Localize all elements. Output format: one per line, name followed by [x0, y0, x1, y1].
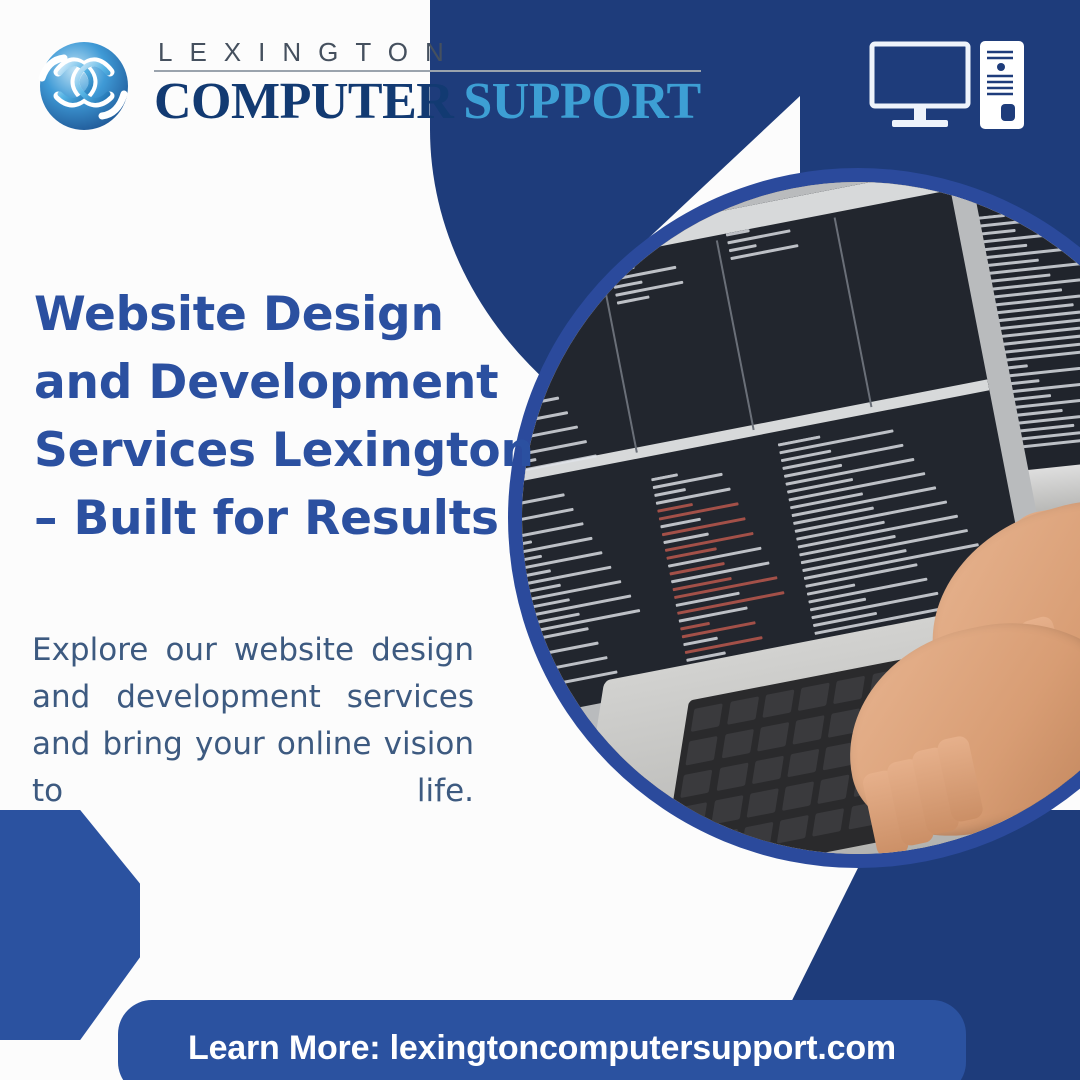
- brand-name-lexington: LEXINGTON: [154, 39, 701, 72]
- desktop-monitor-icon: [872, 44, 968, 127]
- code-pane-bottom-mid: [651, 456, 807, 677]
- page-title: Website Design and Development Services …: [34, 281, 554, 552]
- header: LEXINGTON COMPUTERSUPPORT: [0, 0, 1080, 170]
- pc-tower-icon: [980, 41, 1024, 129]
- learn-more-cta-bar[interactable]: Learn More: lexingtoncomputersupport.com: [118, 1000, 966, 1080]
- hero-photo: [522, 182, 1080, 854]
- brand-logo[interactable]: LEXINGTON COMPUTERSUPPORT: [28, 32, 701, 136]
- brand-name-support: SUPPORT: [463, 73, 700, 130]
- computer-setup-icon-group: [868, 38, 1028, 134]
- code-pane-top-mid: [611, 250, 728, 325]
- brand-name-computer: COMPUTER: [154, 73, 453, 130]
- page-subtext: Explore our website design and developme…: [32, 627, 474, 863]
- brand-wordmark: LEXINGTON COMPUTERSUPPORT: [154, 39, 701, 128]
- cta-label: Learn More: lexingtoncomputersupport.com: [188, 1029, 896, 1068]
- photo-scene: [522, 182, 1080, 854]
- brand-name-main: COMPUTERSUPPORT: [154, 75, 701, 128]
- poster-canvas: LEXINGTON COMPUTERSUPPORT: [0, 0, 1080, 1080]
- interlocking-knot-logo-icon: [28, 32, 140, 136]
